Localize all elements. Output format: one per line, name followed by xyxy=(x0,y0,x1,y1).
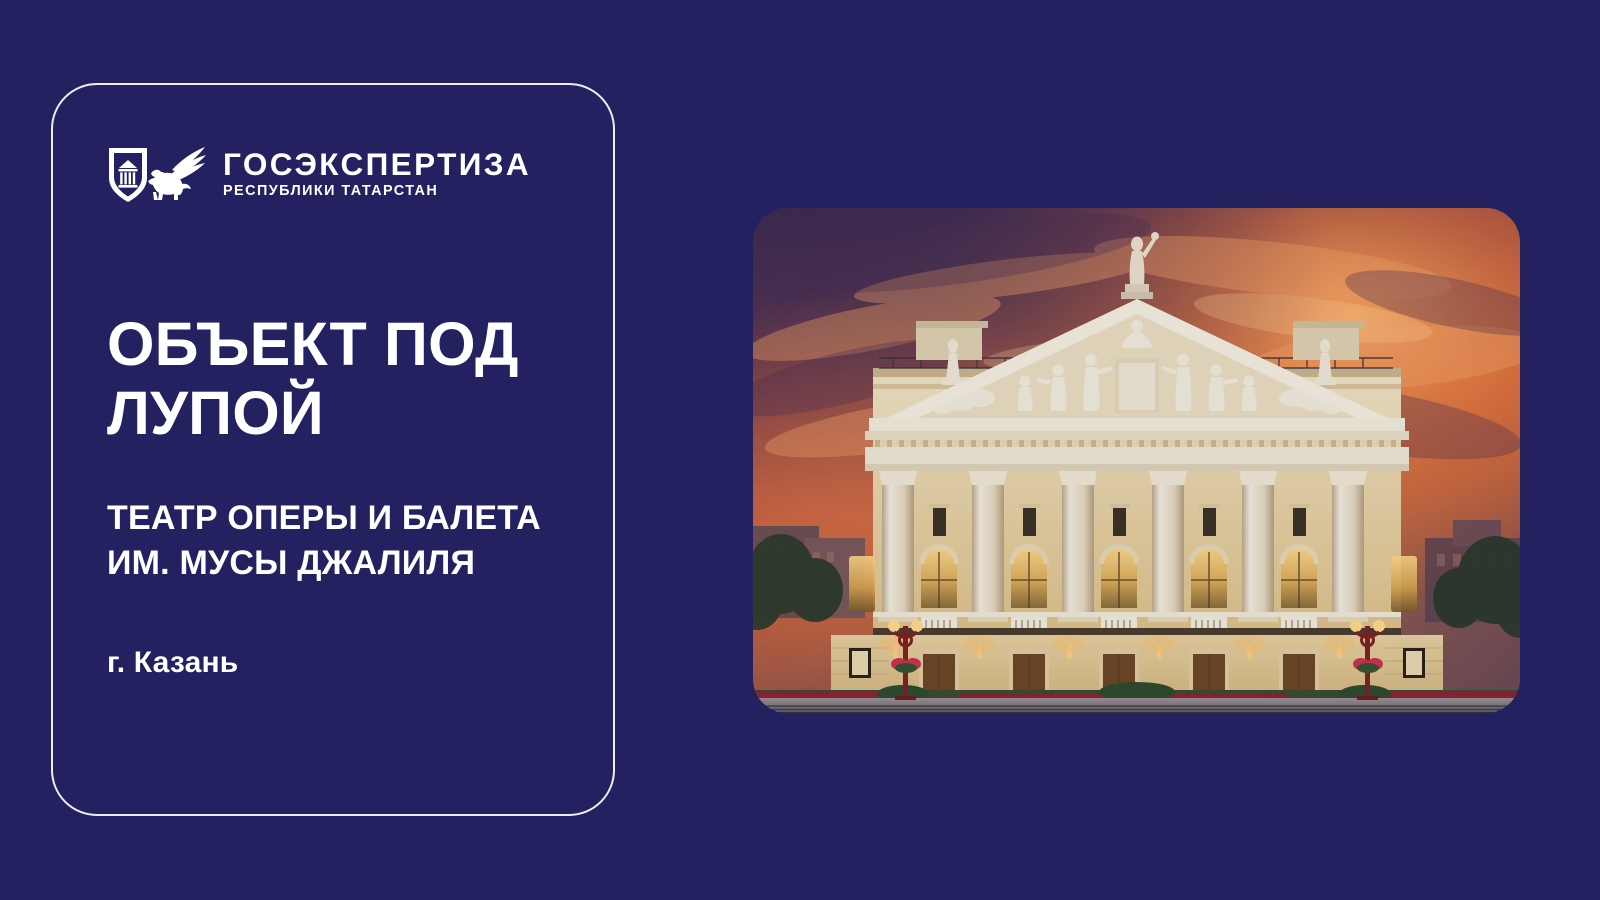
city-label: г. Казань xyxy=(107,645,238,681)
logo-title: ГОСЭКСПЕРТИЗА xyxy=(223,148,531,180)
page-title: ОБЪЕКТ ПОД ЛУПОЙ xyxy=(107,310,577,448)
subheadline-block: ТЕАТР ОПЕРЫ И БАЛЕТА ИМ. МУСЫ ДЖАЛИЛЯ xyxy=(107,496,597,586)
gosexpertiza-emblem-icon xyxy=(106,142,210,206)
info-card: ГОСЭКСПЕРТИЗА РЕСПУБЛИКИ ТАТАРСТАН ОБЪЕК… xyxy=(51,83,615,816)
logo-subtitle: РЕСПУБЛИКИ ТАТАРСТАН xyxy=(223,182,531,201)
theatre-photo-illustration xyxy=(753,208,1520,713)
location-block: г. Казань xyxy=(107,645,238,681)
theatre-photo xyxy=(753,208,1520,713)
logo: ГОСЭКСПЕРТИЗА РЕСПУБЛИКИ ТАТАРСТАН xyxy=(106,142,531,206)
object-name: ТЕАТР ОПЕРЫ И БАЛЕТА ИМ. МУСЫ ДЖАЛИЛЯ xyxy=(107,496,597,586)
logo-wordmark: ГОСЭКСПЕРТИЗА РЕСПУБЛИКИ ТАТАРСТАН xyxy=(223,146,531,202)
headline-block: ОБЪЕКТ ПОД ЛУПОЙ xyxy=(107,310,577,448)
slide-root: ГОСЭКСПЕРТИЗА РЕСПУБЛИКИ ТАТАРСТАН ОБЪЕК… xyxy=(0,0,1600,900)
